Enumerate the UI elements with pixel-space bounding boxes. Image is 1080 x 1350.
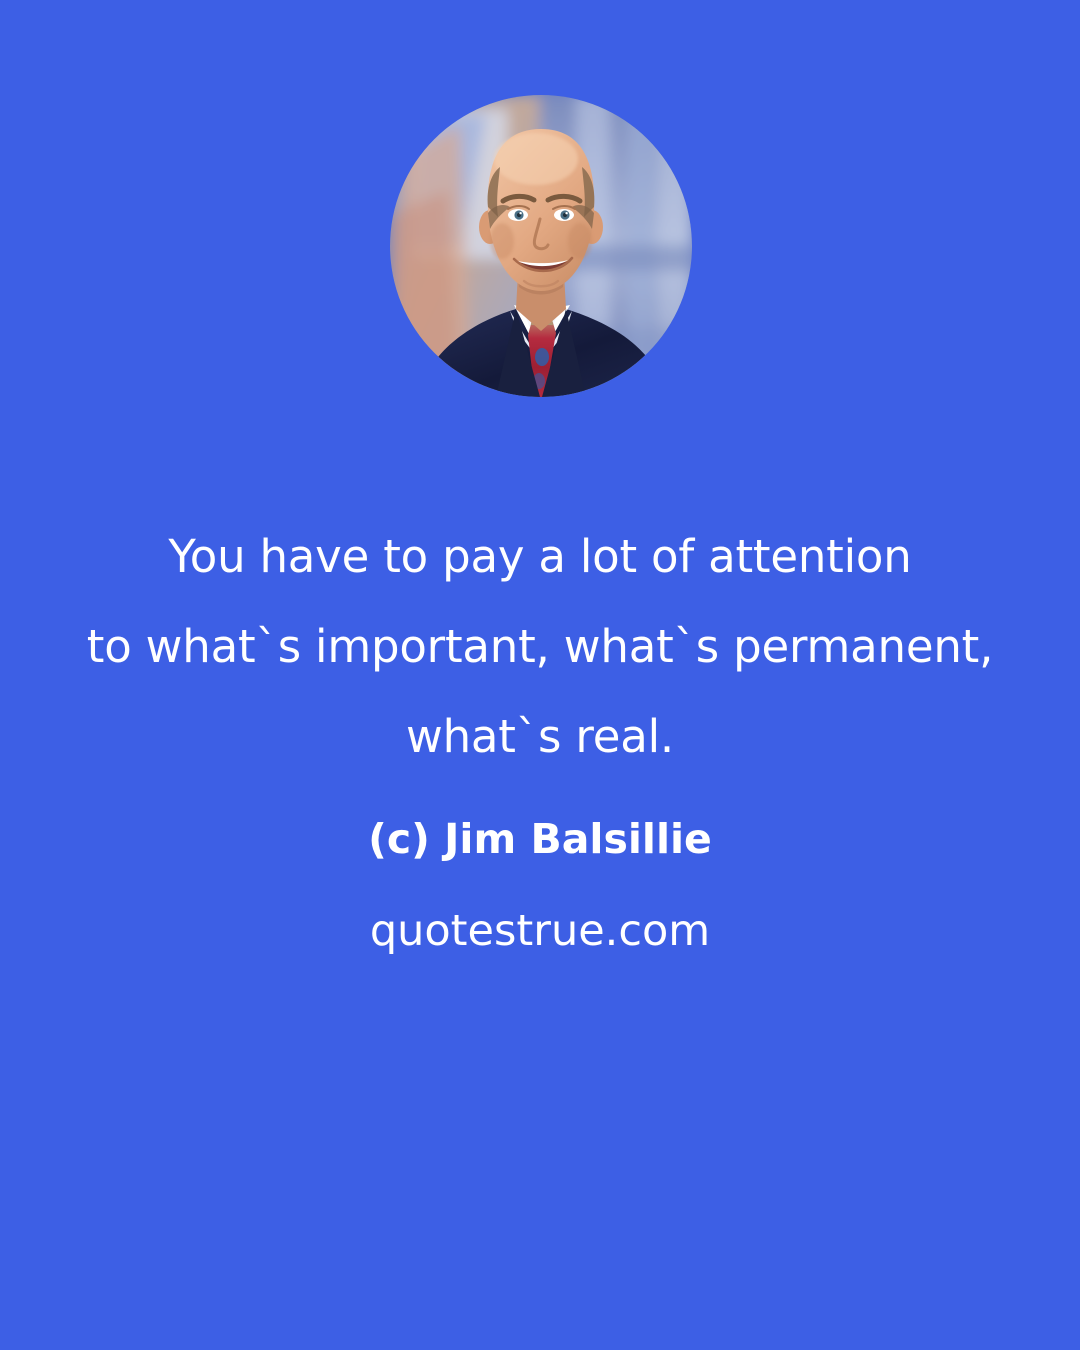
author-portrait-container (390, 95, 692, 397)
quote-card: You have to pay a lot of attention to wh… (0, 0, 1080, 1350)
quote-line-3: what`s real. (0, 692, 1080, 782)
quote-line-1: You have to pay a lot of attention (0, 512, 1080, 602)
site-watermark: quotestrue.com (0, 898, 1080, 964)
author-attribution: (c) Jim Balsillie (0, 808, 1080, 870)
quote-line-2: to what`s important, what`s permanent, (0, 602, 1080, 692)
avatar (390, 95, 692, 397)
quote-text: You have to pay a lot of attention to wh… (0, 512, 1080, 782)
portrait-illustration (390, 95, 692, 397)
